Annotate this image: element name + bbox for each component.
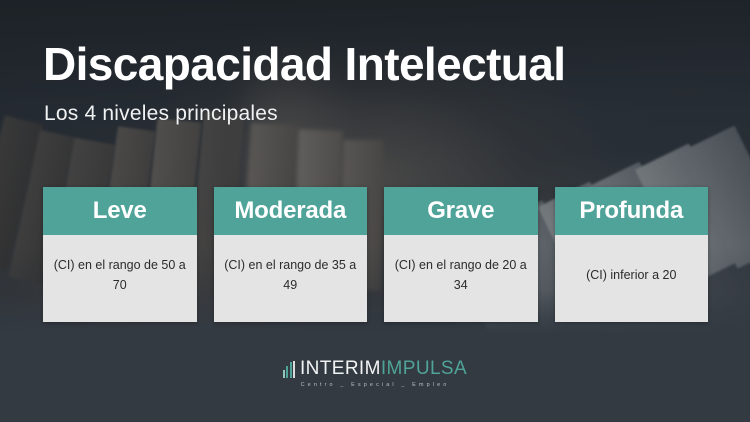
level-card-title: Grave bbox=[384, 187, 538, 235]
level-card-grave[interactable]: Grave (CI) en el rango de 20 a 34 bbox=[384, 187, 538, 322]
level-card-description: (CI) en el rango de 20 a 34 bbox=[384, 235, 538, 322]
level-card-leve[interactable]: Leve (CI) en el rango de 50 a 70 bbox=[43, 187, 197, 322]
level-card-moderada[interactable]: Moderada (CI) en el rango de 35 a 49 bbox=[214, 187, 368, 322]
footer-logo[interactable]: INTERIM IMPULSA Centro _ Especial _ Empl… bbox=[0, 358, 750, 388]
logo-tagline: Centro _ Especial _ Empleo bbox=[301, 382, 450, 388]
level-card-title: Moderada bbox=[214, 187, 368, 235]
level-card-profunda[interactable]: Profunda (CI) inferior a 20 bbox=[555, 187, 709, 322]
level-card-description: (CI) en el rango de 50 a 70 bbox=[43, 235, 197, 322]
level-card-description: (CI) inferior a 20 bbox=[555, 235, 709, 322]
logo-word-secondary: IMPULSA bbox=[381, 358, 467, 380]
page-title: Discapacidad Intelectual bbox=[43, 40, 565, 88]
level-card-description: (CI) en el rango de 35 a 49 bbox=[214, 235, 368, 322]
levels-card-list: Leve (CI) en el rango de 50 a 70 Moderad… bbox=[43, 187, 708, 322]
page-subtitle: Los 4 niveles principales bbox=[44, 102, 278, 126]
level-card-title: Profunda bbox=[555, 187, 709, 235]
slide-canvas: Discapacidad Intelectual Los 4 niveles p… bbox=[0, 0, 750, 422]
striped-bars-icon bbox=[283, 361, 297, 378]
logo-word-primary: INTERIM bbox=[300, 358, 381, 380]
level-card-title: Leve bbox=[43, 187, 197, 235]
slide-content: Discapacidad Intelectual Los 4 niveles p… bbox=[0, 0, 750, 422]
logo-wordmark-row: INTERIM IMPULSA bbox=[283, 358, 467, 380]
